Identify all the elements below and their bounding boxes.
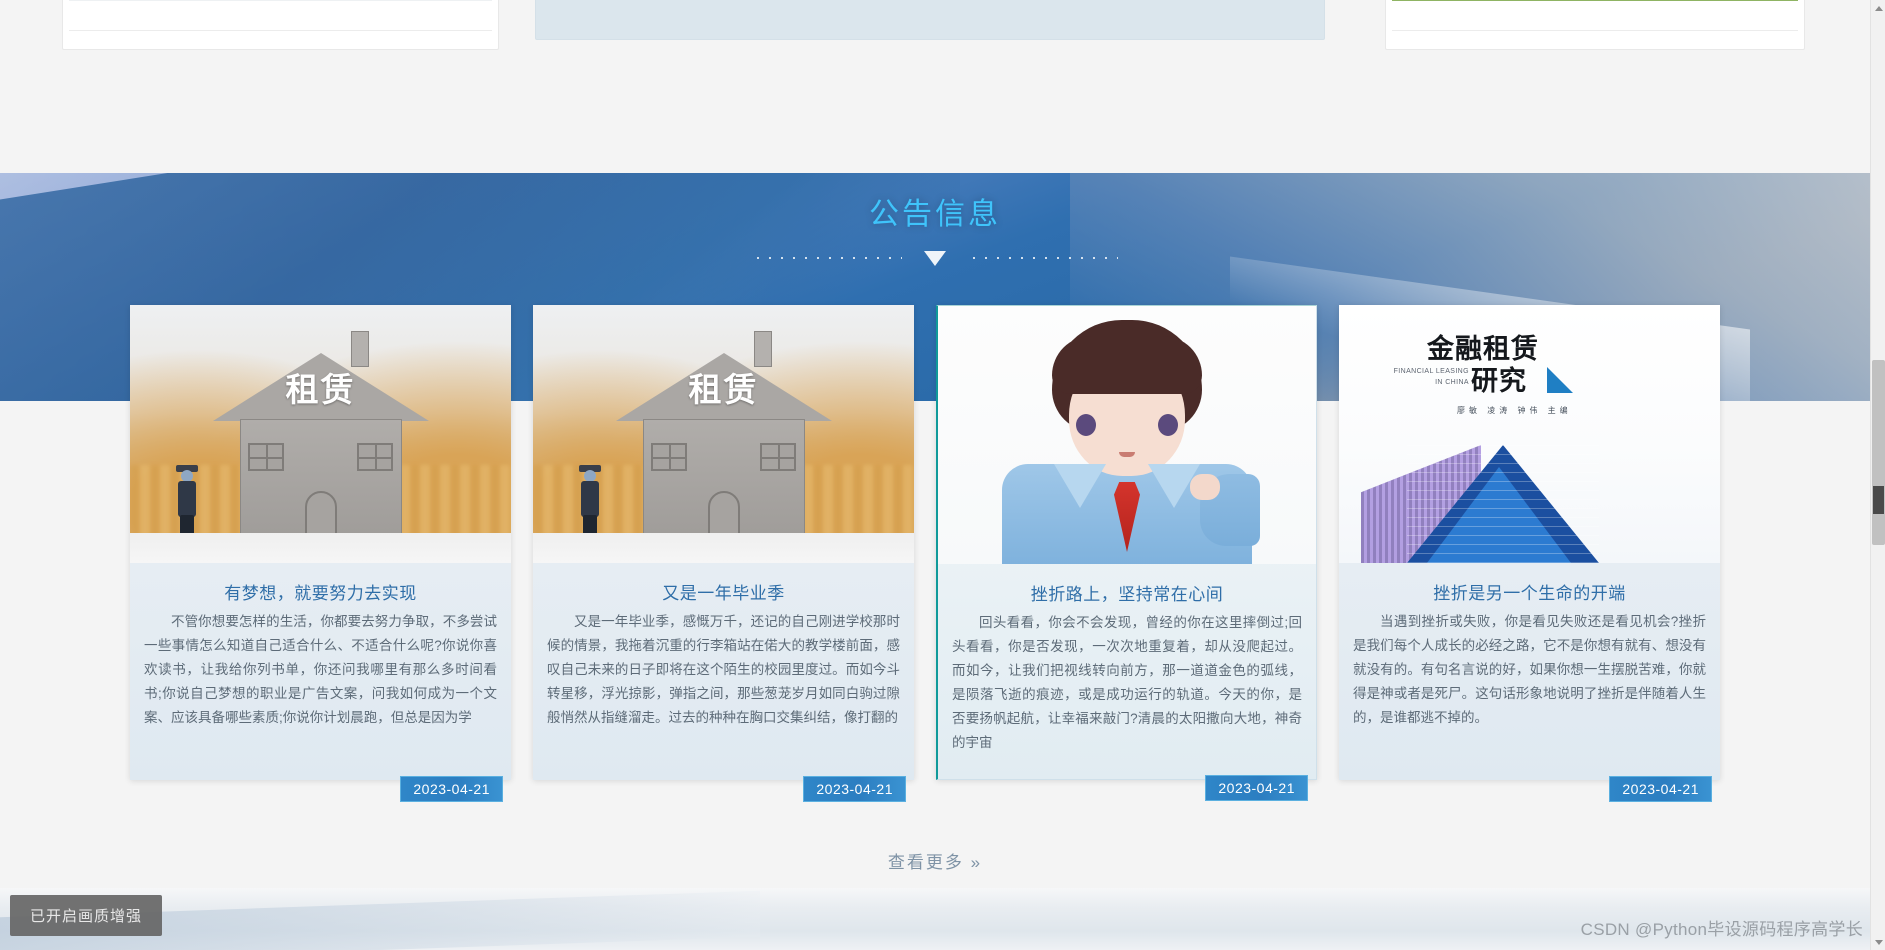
anime-boy-illustration	[938, 306, 1316, 564]
top-card-3[interactable]	[1385, 0, 1805, 50]
announcement-card[interactable]: 金融租赁 研究 FINANCIAL LEASING IN CHINA 廖敏 凌涛…	[1339, 305, 1720, 780]
window-left	[651, 443, 687, 471]
scrollbar-thumb-marker	[1873, 486, 1884, 514]
ground-surface	[130, 533, 511, 563]
window-left	[248, 443, 284, 471]
house-rental-coins-photo: 租赁	[533, 305, 914, 563]
triangle-accent-icon	[1547, 367, 1573, 393]
announcement-card[interactable]: 租赁 有梦想，就要努力去实现 不管你想要怎样的生活，你都要去努力争取，不多尝试一…	[130, 305, 511, 780]
ground-surface	[533, 533, 914, 563]
book-authors: 廖敏 凌涛 钟伟 主编	[1457, 405, 1572, 416]
announcement-card[interactable]: 挫折路上，坚持常在心间 回头看看，你会不会发现，曾经的你在这里摔倒过;回头看看，…	[936, 305, 1317, 780]
card-date-badge: 2023-04-21	[1609, 776, 1712, 802]
card-date-badge: 2023-04-21	[803, 776, 906, 802]
section-divider	[0, 247, 1870, 269]
card-title: 有梦想，就要努力去实现	[130, 579, 511, 604]
down-triangle-icon	[924, 251, 946, 266]
view-more-container: 查看更多 »	[0, 848, 1870, 873]
top-card-2[interactable]	[535, 0, 1325, 40]
bangs-shape	[1052, 336, 1202, 394]
card-date-badge: 2023-04-21	[400, 776, 503, 802]
eye-left	[1076, 414, 1096, 436]
view-more-link[interactable]: 查看更多 »	[888, 853, 982, 872]
hand-shape	[1190, 474, 1220, 500]
snow-scene-photo	[69, 0, 492, 1]
announcement-card[interactable]: 租赁 又是一年毕业季 又是一年毕业季，感慨万千，还记的自己刚进学校那时候的情景，…	[533, 305, 914, 780]
book-title-line2: 研究	[1471, 359, 1527, 398]
house-label: 租赁	[689, 363, 759, 411]
figurine-person	[176, 465, 198, 539]
card-title: 又是一年毕业季	[533, 579, 914, 604]
window-right	[760, 443, 796, 471]
collar-left	[1054, 464, 1106, 508]
chevron-up-icon[interactable]	[1871, 0, 1885, 16]
card-body-text: 当遇到挫折或失败，你是看见失败还是看见机会?挫折是我们每个人成长的必经之路，它不…	[1339, 610, 1720, 740]
announcement-card-list: 租赁 有梦想，就要努力去实现 不管你想要怎样的生活，你都要去努力争取，不多尝试一…	[130, 305, 1750, 780]
card-body-text: 回头看看，你会不会发现，曾经的你在这里摔倒过;回头看看，你是否发现，一次次地重复…	[938, 611, 1316, 761]
divider	[69, 30, 492, 31]
card-title: 挫折路上，坚持常在心间	[938, 580, 1316, 605]
window-right	[357, 443, 393, 471]
financial-leasing-book-cover: 金融租赁 研究 FINANCIAL LEASING IN CHINA 廖敏 凌涛…	[1339, 305, 1720, 563]
page-scrollbar[interactable]	[1870, 0, 1885, 950]
figurine-person	[579, 465, 601, 539]
section-title: 公告信息	[0, 189, 1870, 233]
card-body-text: 不管你想要怎样的生活，你都要去努力争取，不多尝试一些事情怎么知道自己适合什么、不…	[130, 610, 511, 740]
dotted-line-left	[752, 257, 902, 259]
card-date-badge: 2023-04-21	[1205, 775, 1308, 801]
house-rental-coins-photo: 租赁	[130, 305, 511, 563]
page-root: 公告信息 租赁 有梦想，就要努力去实	[0, 0, 1885, 950]
grid-lines-overlay	[1407, 445, 1599, 563]
eye-right	[1158, 414, 1178, 436]
dotted-line-right	[968, 257, 1118, 259]
divider	[1392, 30, 1798, 31]
top-card-1[interactable]	[62, 0, 499, 50]
book-subtitle-en: FINANCIAL LEASING IN CHINA	[1387, 367, 1469, 388]
mouth-shape	[1119, 452, 1135, 457]
csdn-watermark: CSDN @Python毕设源码程序高学长	[1581, 915, 1863, 940]
book-cover-graphic	[1361, 438, 1631, 563]
previous-section-cards-strip	[0, 0, 1870, 160]
card-body-text: 又是一年毕业季，感慨万千，还记的自己刚进学校那时候的情景，我拖着沉重的行李箱站在…	[533, 610, 914, 740]
quality-enhance-toast: 已开启画质增强	[10, 895, 162, 936]
grass-field-photo	[1392, 0, 1798, 1]
scrollbar-thumb[interactable]	[1872, 360, 1885, 545]
chevron-down-icon[interactable]	[1871, 934, 1885, 950]
house-label: 租赁	[286, 363, 356, 411]
card-title: 挫折是另一个生命的开端	[1339, 579, 1720, 604]
